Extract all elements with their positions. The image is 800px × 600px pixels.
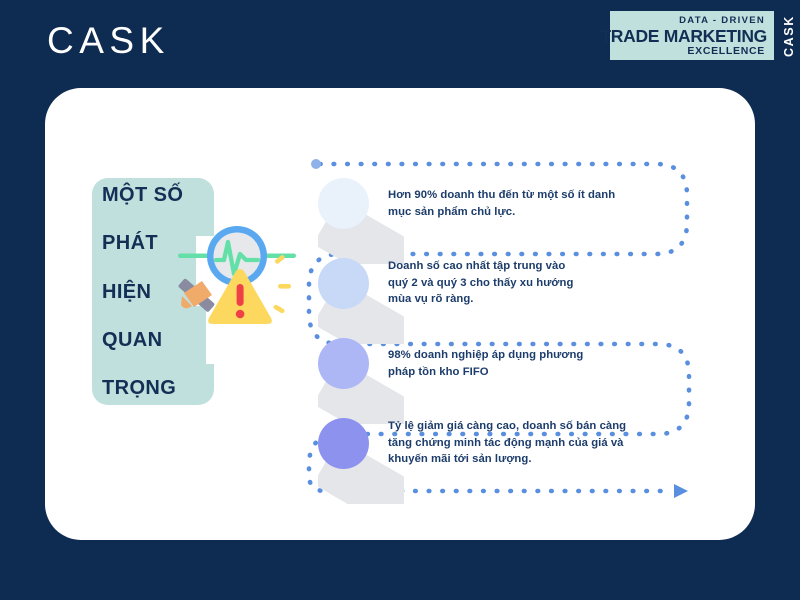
title-line-4: QUAN	[92, 330, 214, 351]
badge-vertical-brand: CASK	[778, 13, 800, 59]
finding-text: Hơn 90% doanh thu đến từ một số ít danh …	[388, 187, 615, 220]
bullet-circle	[318, 338, 369, 389]
magnifier-handle-icon	[178, 278, 215, 313]
trade-marketing-badge: DATA - DRIVEN TRADE MARKETING EXCELLENCE…	[610, 11, 798, 60]
title-line-5: TRỌNG	[92, 378, 214, 399]
title-line-1: MỘT SỐ	[92, 185, 214, 206]
bullet-circle	[318, 258, 369, 309]
bullet-circle	[318, 178, 369, 229]
bullet-circle	[318, 418, 369, 469]
finding-text: Doanh số cao nhất tập trung vào quý 2 và…	[388, 258, 573, 308]
brand-logo: CASK	[47, 22, 170, 59]
badge-panel: DATA - DRIVEN TRADE MARKETING EXCELLENCE	[610, 11, 774, 60]
findings-list: Hơn 90% doanh thu đến từ một số ít danh …	[296, 155, 700, 500]
badge-title: TRADE MARKETING	[600, 26, 767, 47]
finding-text: 98% doanh nghiệp áp dụng phương pháp tồn…	[388, 347, 583, 380]
magnifier-warning-illustration	[178, 208, 296, 332]
illustration-svg	[178, 208, 296, 332]
warning-rays-icon	[273, 254, 291, 314]
slide-canvas: CASK DATA - DRIVEN TRADE MARKETING EXCEL…	[0, 0, 800, 600]
finding-text: Tỷ lệ giảm giá càng cao, doanh số bán cà…	[388, 418, 626, 468]
badge-tagline-top: DATA - DRIVEN	[679, 15, 765, 26]
badge-tagline-bottom: EXCELLENCE	[687, 45, 765, 57]
